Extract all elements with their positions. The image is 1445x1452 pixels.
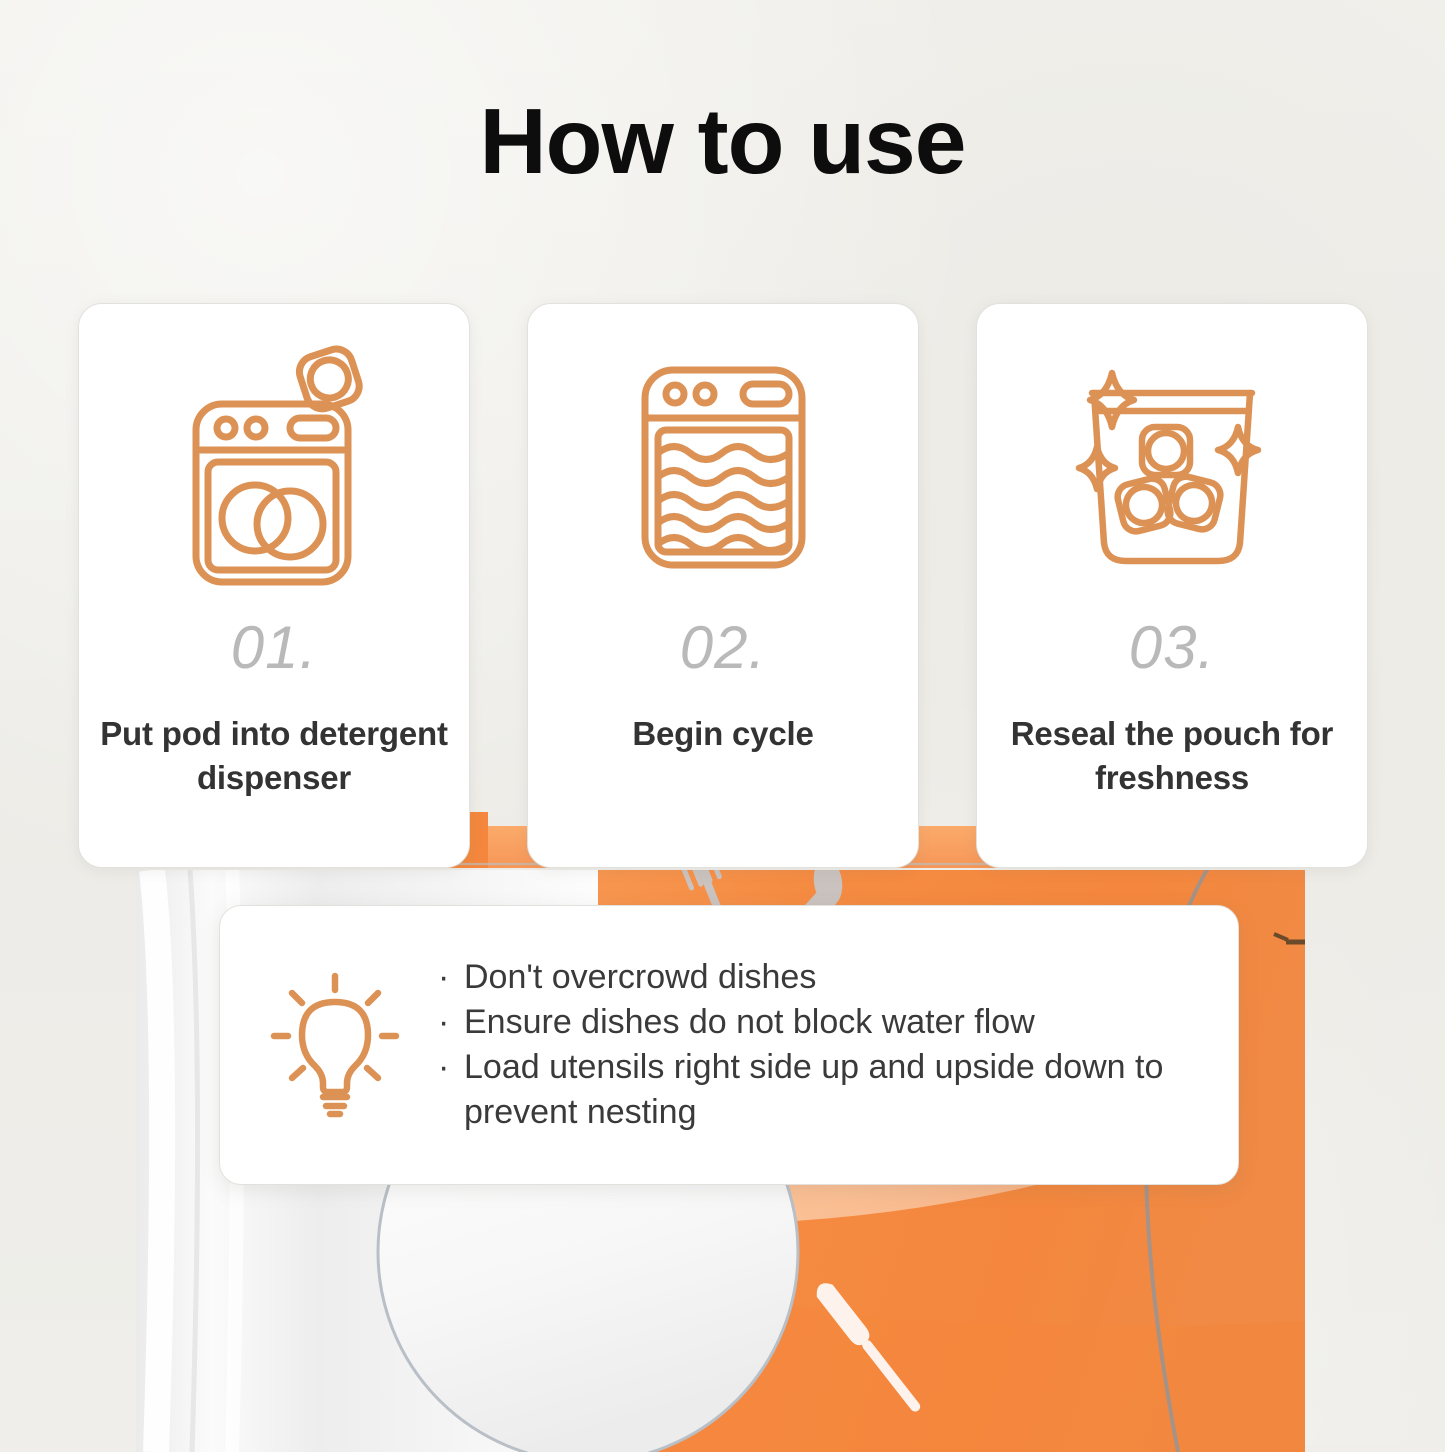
tips-card[interactable]: · Don't overcrowd dishes · Ensure dishes… bbox=[219, 905, 1239, 1185]
tip-text: Don't overcrowd dishes bbox=[464, 955, 1208, 1000]
step-card-2[interactable]: 02. Begin cycle bbox=[527, 303, 919, 868]
dishwasher-wash-cycle-icon bbox=[528, 322, 918, 612]
step-number: 01. bbox=[231, 618, 317, 678]
tip-item: · Don't overcrowd dishes bbox=[438, 955, 1208, 1000]
dishwasher-pod-icon bbox=[79, 322, 469, 612]
step-caption: Begin cycle bbox=[620, 712, 825, 756]
tip-bullet: · bbox=[438, 1045, 464, 1135]
tip-item: · Load utensils right side up and upside… bbox=[438, 1045, 1208, 1135]
step-caption: Reseal the pouch for freshness bbox=[977, 712, 1367, 799]
step-card-1[interactable]: 01. Put pod into detergent dispenser bbox=[78, 303, 470, 868]
page-title: How to use bbox=[0, 95, 1445, 188]
tip-bullet: · bbox=[438, 955, 464, 1000]
step-number: 03. bbox=[1129, 618, 1215, 678]
step-caption: Put pod into detergent dispenser bbox=[79, 712, 469, 799]
tip-bullet: · bbox=[438, 1000, 464, 1045]
tip-item: · Ensure dishes do not block water flow bbox=[438, 1000, 1208, 1045]
steps-container: 01. Put pod into detergent dispenser 02.… bbox=[78, 303, 1368, 868]
resealable-pouch-pods-icon bbox=[977, 322, 1367, 612]
step-card-3[interactable]: 03. Reseal the pouch for freshness bbox=[976, 303, 1368, 868]
tip-text: Load utensils right side up and upside d… bbox=[464, 1045, 1208, 1135]
lightbulb-icon bbox=[240, 970, 430, 1120]
step-number: 02. bbox=[680, 618, 766, 678]
tips-list: · Don't overcrowd dishes · Ensure dishes… bbox=[430, 955, 1208, 1135]
tip-text: Ensure dishes do not block water flow bbox=[464, 1000, 1208, 1045]
